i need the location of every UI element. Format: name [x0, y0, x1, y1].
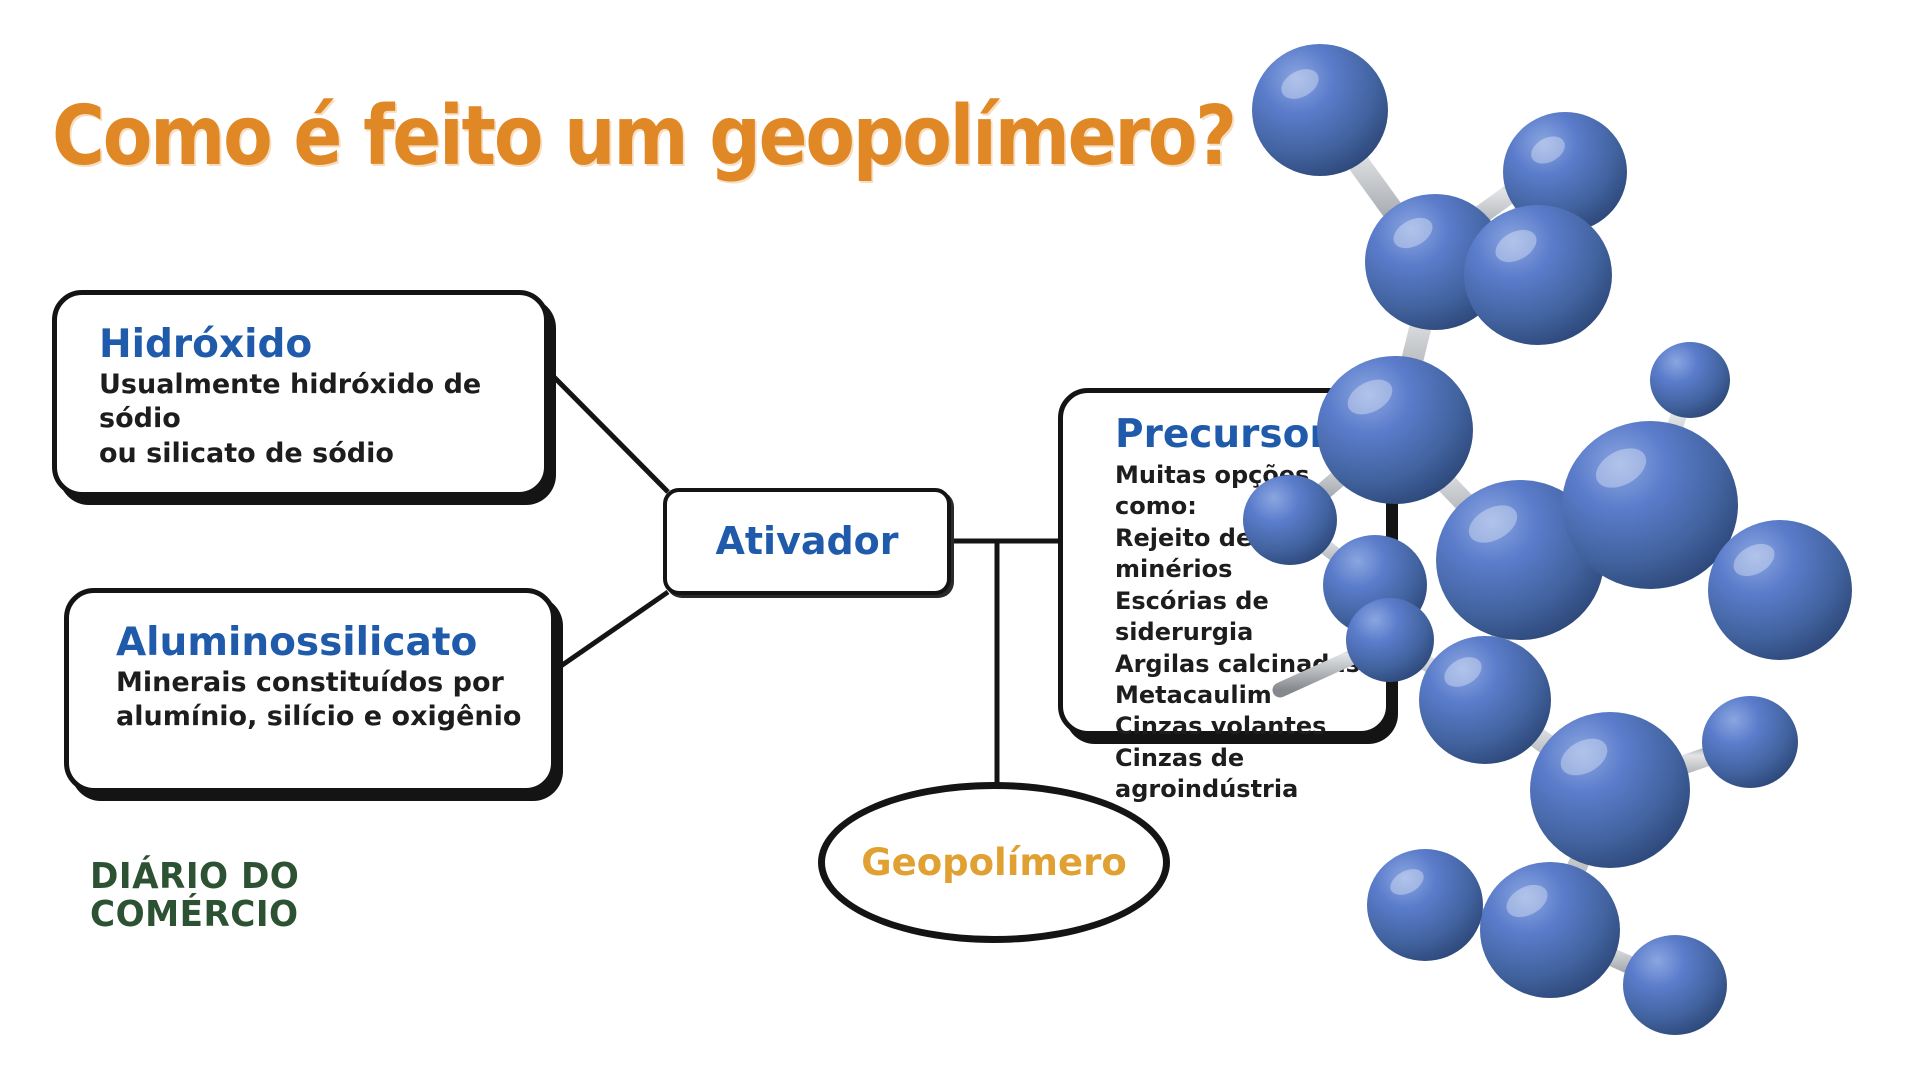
logo-line-2: COMÉRCIO: [90, 896, 299, 934]
node-precursor-heading: Precursor: [1115, 415, 1368, 456]
node-precursor-line-4: Argilas calcinadas: [1115, 649, 1368, 680]
node-hidroxido[interactable]: Hidróxido Usualmente hidróxido de sódio …: [52, 290, 549, 497]
node-aluminossilicato-heading: Aluminossilicato: [116, 623, 531, 664]
logo-diario-do-comercio: DIÁRIO DO COMÉRCIO: [90, 858, 299, 934]
logo-line-1: DIÁRIO DO: [90, 858, 299, 896]
node-hidroxido-line-2: ou silicato de sódio: [99, 437, 518, 472]
node-precursor-line-5: Metacaulim: [1115, 680, 1368, 711]
node-precursor-line-2: Rejeito de minérios: [1115, 523, 1368, 586]
node-aluminossilicato-line-2: alumínio, silício e oxigênio: [116, 700, 531, 735]
node-hidroxido-heading: Hidróxido: [99, 325, 518, 366]
node-precursor-line-1: Muitas opções como:: [1115, 460, 1368, 523]
node-geopolimero[interactable]: Geopolímero: [818, 782, 1170, 943]
page-title: Como é feito um geopolímero?: [52, 96, 1235, 178]
node-ativador-heading: Ativador: [715, 522, 898, 562]
node-hidroxido-line-1: Usualmente hidróxido de sódio: [99, 368, 518, 437]
node-precursor-line-3: Escórias de siderurgia: [1115, 586, 1368, 649]
node-precursor-line-6: Cinzas volantes: [1115, 711, 1368, 742]
node-precursor[interactable]: Precursor Muitas opções como: Rejeito de…: [1058, 388, 1391, 736]
infographic-canvas: Como é feito um geopolímero? Hidróxido U…: [0, 0, 1920, 1080]
connector-hidroxido-ativador: [549, 372, 668, 492]
node-aluminossilicato-line-1: Minerais constituídos por: [116, 666, 531, 701]
node-geopolimero-label: Geopolímero: [861, 841, 1126, 884]
node-precursor-line-7: Cinzas de agroindústria: [1115, 743, 1368, 806]
node-ativador[interactable]: Ativador: [663, 488, 951, 595]
connector-aluminossilicato-ativador: [558, 592, 668, 668]
node-aluminossilicato[interactable]: Aluminossilicato Minerais constituídos p…: [64, 588, 556, 793]
